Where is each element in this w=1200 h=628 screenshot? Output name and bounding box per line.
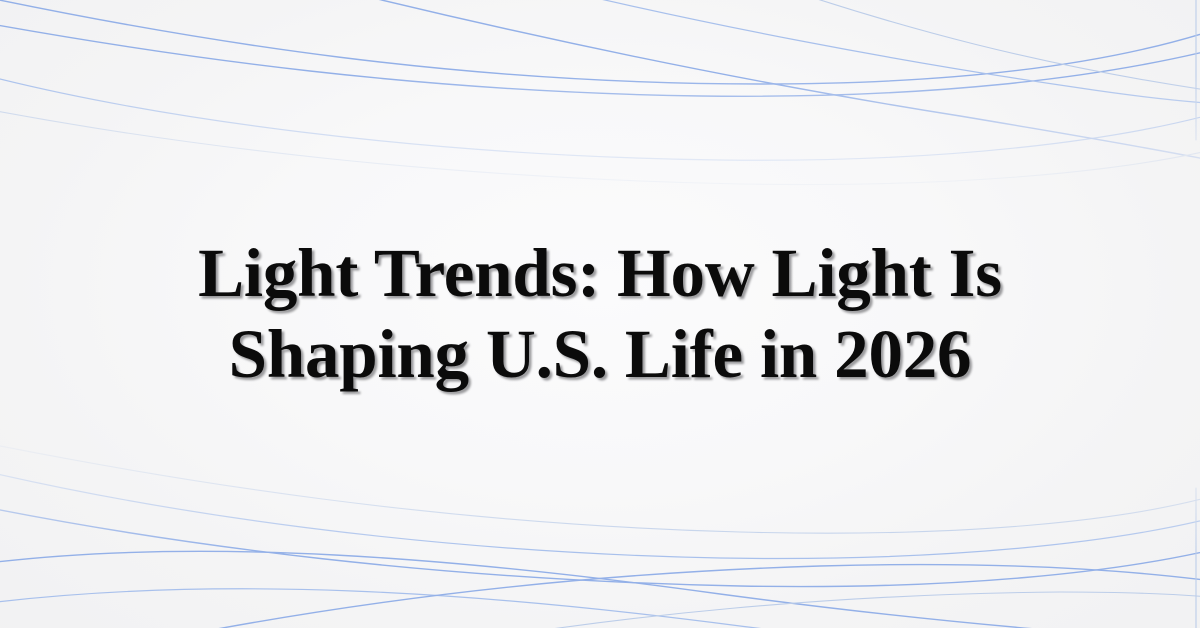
headline-container: Light Trends: How Light Is Shaping U.S. … [0, 0, 1200, 628]
page-title-line-1: Light Trends: How Light Is [110, 233, 1090, 314]
page-title-line-2: Shaping U.S. Life in 2026 [110, 314, 1090, 395]
page-title: Light Trends: How Light Is Shaping U.S. … [110, 233, 1090, 394]
banner-canvas: Light Trends: How Light Is Shaping U.S. … [0, 0, 1200, 628]
